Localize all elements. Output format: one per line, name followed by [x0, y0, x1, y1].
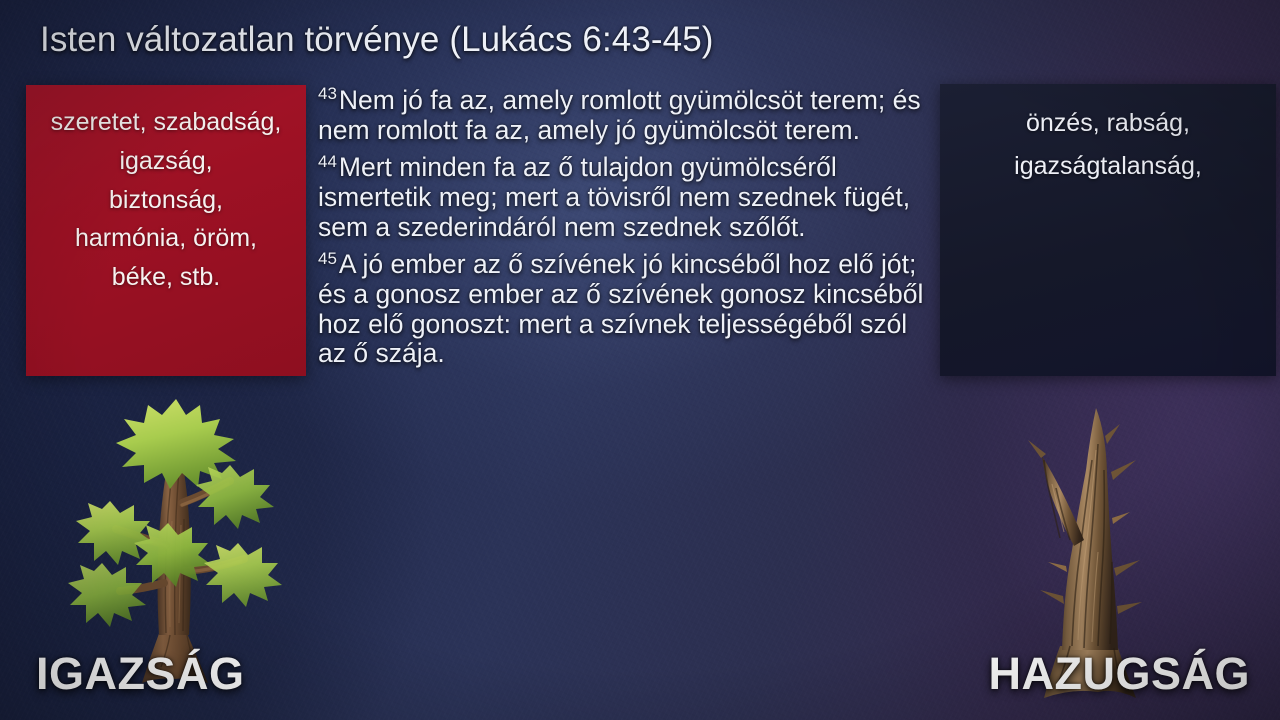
verse-text: Mert minden fa az ő tulajdon gyümölcsérő…	[318, 152, 910, 241]
verse-paragraph: 44Mert minden fa az ő tulajdon gyümölcsé…	[318, 153, 930, 242]
positive-attribute-line: béke, stb.	[112, 258, 220, 297]
negative-attribute-line: önzés, rabság,	[1026, 102, 1190, 145]
positive-attribute-line: igazság,	[119, 142, 212, 181]
verse-number: 44	[318, 152, 337, 171]
positive-attribute-line: harmónia, öröm,	[75, 219, 257, 258]
slide-canvas: Isten változatlan törvénye (Lukács 6:43-…	[0, 0, 1280, 720]
green-tree-icon	[58, 395, 293, 685]
negative-attribute-line: igazságtalanság,	[1014, 145, 1202, 188]
verse-text: Nem jó fa az, amely romlott gyümölcsöt t…	[318, 85, 921, 145]
label-truth: IGAZSÁG	[36, 648, 245, 700]
verse-paragraph: 45A jó ember az ő szívének jó kincséből …	[318, 250, 930, 369]
negative-attributes-panel: önzés, rabság, igazságtalanság,	[940, 84, 1276, 376]
scripture-body: 43Nem jó fa az, amely romlott gyümölcsöt…	[318, 86, 930, 369]
page-title: Isten változatlan törvénye (Lukács 6:43-…	[40, 20, 714, 60]
verse-paragraph: 43Nem jó fa az, amely romlott gyümölcsöt…	[318, 86, 930, 145]
verse-number: 45	[318, 249, 337, 268]
label-lie: HAZUGSÁG	[989, 648, 1251, 700]
positive-attributes-panel: szeretet, szabadság, igazság, biztonság,…	[26, 85, 306, 376]
verse-number: 43	[318, 84, 337, 103]
verse-text: A jó ember az ő szívének jó kincséből ho…	[318, 249, 923, 368]
positive-attribute-line: szeretet, szabadság,	[51, 103, 282, 142]
positive-attribute-line: biztonság,	[109, 181, 223, 220]
